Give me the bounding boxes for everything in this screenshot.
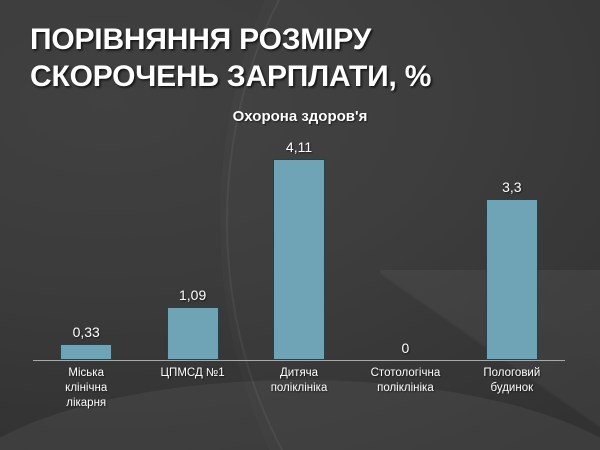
slide-title: ПОРІВНЯННЯ РОЗМІРУ СКОРОЧЕНЬ ЗАРПЛАТИ, % — [30, 22, 500, 95]
x-axis-label-2-line-2: поліклініка — [248, 381, 350, 396]
x-axis-label-3-line-1: Стотологічна — [354, 366, 456, 381]
x-axis-label-1: ЦПМСД №1 — [139, 366, 245, 412]
x-axis-label-4-line-1: Пологовий — [461, 366, 563, 381]
chart-title: Охорона здоров'я — [0, 108, 600, 125]
x-axis-label-2: Дитяча поліклініка — [246, 366, 352, 412]
bar-group-3: 0 — [352, 130, 458, 360]
bar-group-4: 3,3 — [459, 130, 565, 360]
bar-data-label-1: 1,09 — [179, 288, 206, 302]
bar-data-label-2: 4,11 — [286, 140, 312, 154]
x-axis-label-0-line-2: клінічна — [35, 381, 137, 396]
bar-data-label-0: 0,33 — [73, 325, 100, 339]
x-axis-label-1-line-1: ЦПМСД №1 — [141, 366, 243, 381]
bar-group-1: 1,09 — [139, 130, 245, 360]
chart-bars-container: 0,33 1,09 4,11 0 3,3 — [33, 130, 565, 360]
x-axis-label-0-line-1: Міська — [35, 366, 137, 381]
bar-group-2: 4,11 — [246, 130, 352, 360]
x-axis-label-4: Пологовий будинок — [459, 366, 565, 412]
chart-x-axis-labels: Міська клінічна лікарня ЦПМСД №1 Дитяча … — [33, 366, 565, 412]
bar-data-label-4: 3,3 — [502, 180, 521, 194]
bar-rect-2[interactable] — [273, 159, 325, 360]
bar-data-label-3: 0 — [402, 341, 410, 355]
x-axis-label-0: Міська клінічна лікарня — [33, 366, 139, 412]
bar-group-0: 0,33 — [33, 130, 139, 360]
slide-title-line-1: ПОРІВНЯННЯ РОЗМІРУ — [30, 22, 500, 59]
bar-rect-0[interactable] — [60, 344, 112, 360]
x-axis-label-0-line-3: лікарня — [35, 396, 137, 411]
presentation-slide: ПОРІВНЯННЯ РОЗМІРУ СКОРОЧЕНЬ ЗАРПЛАТИ, %… — [0, 0, 600, 450]
x-axis-label-3-line-2: поліклініка — [354, 381, 456, 396]
x-axis-label-2-line-1: Дитяча — [248, 366, 350, 381]
bar-rect-1[interactable] — [167, 307, 219, 360]
x-axis-label-3: Стотологічна поліклініка — [352, 366, 458, 412]
x-axis-label-4-line-2: будинок — [461, 381, 563, 396]
bar-rect-4[interactable] — [486, 199, 538, 360]
chart-x-axis-line — [33, 360, 565, 361]
slide-title-line-2: СКОРОЧЕНЬ ЗАРПЛАТИ, % — [30, 59, 500, 96]
